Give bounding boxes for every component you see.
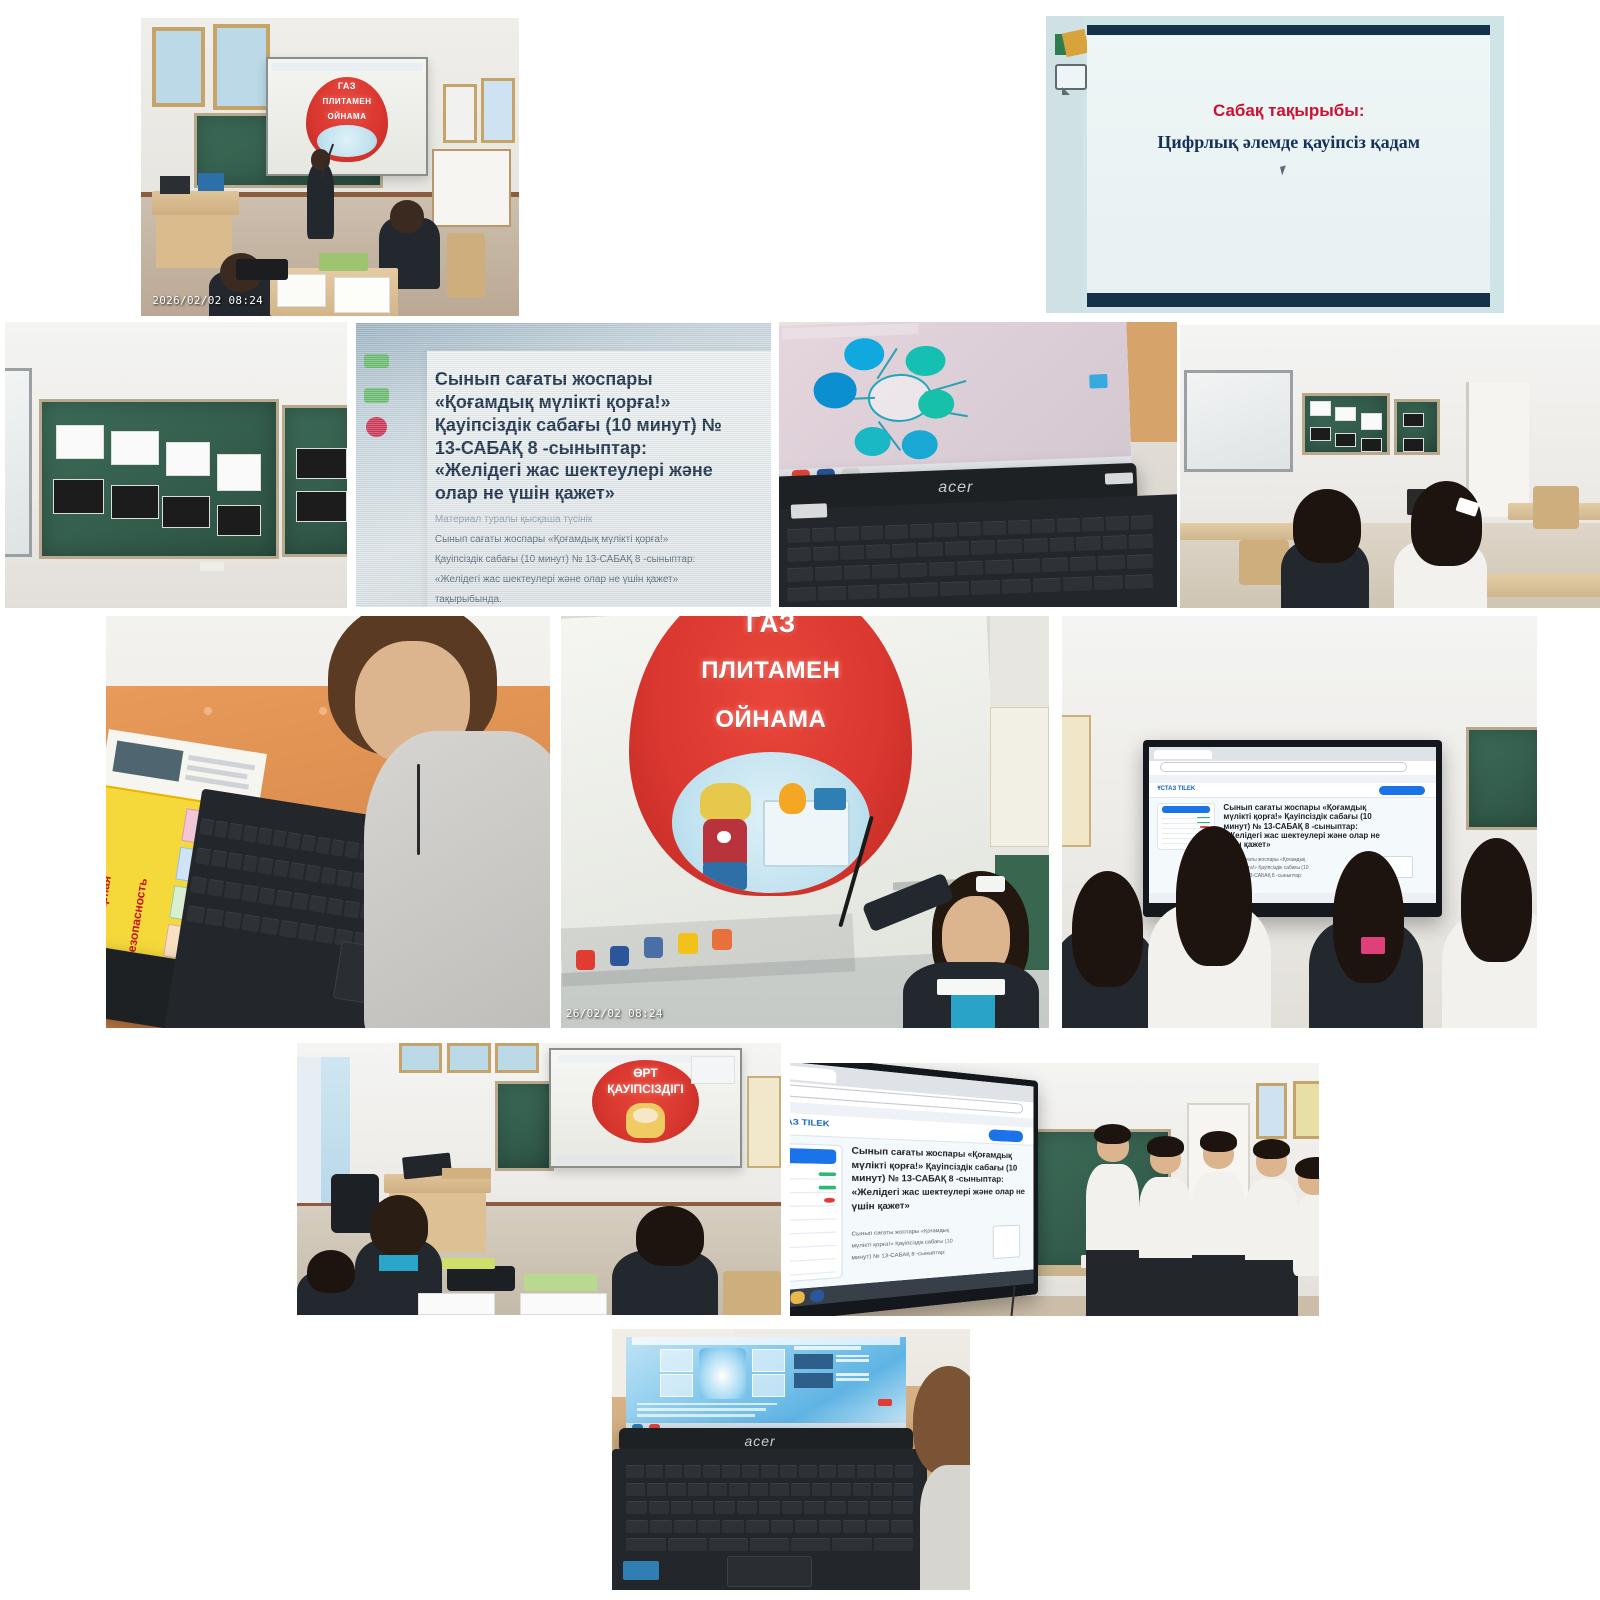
projection-text-line1: ГАЗ <box>629 616 912 638</box>
laptop-trackpad[interactable] <box>727 1556 813 1587</box>
lesson-plan-line-5: «Желідегі жас шектеулері және <box>435 459 713 482</box>
chrome-icon <box>644 937 664 958</box>
site-brand: ҰСТАЗ TILEK <box>1157 786 1195 792</box>
student-figure-5 <box>1293 1195 1319 1276</box>
opera-icon <box>712 929 732 950</box>
lesson-plan-body-line-3: «Желідегі жас шектеулері және олар не үш… <box>435 573 678 587</box>
photo-girl-laptop-fire: Пожарная безопасность 01 acer <box>106 616 550 1028</box>
yandex-icon <box>576 950 596 971</box>
lesson-plan-body-label: Материал туралы қысқаша түсінік <box>435 513 592 527</box>
laptop-screen <box>626 1337 905 1431</box>
display-screen: ҰСТАЗ TILEK Сынып сағаты жосп <box>790 1063 1034 1310</box>
lesson-plan-line-3: Қауіпсіздік сабағы (10 минут) № <box>435 414 722 437</box>
lesson-plan-body-line-1: Сынып сағаты жоспары «Қоғамдық мүлікті қ… <box>435 533 668 547</box>
student-figure-2 <box>1139 1177 1192 1268</box>
photo-timestamp: 2026/02/02 08:24 <box>152 294 263 307</box>
yandex-browser-icon <box>678 933 698 954</box>
photo-classroom-pointing: ГАЗ ПЛИТАМЕН ОЙНАМА <box>141 18 519 316</box>
wall-display: ҰСТАЗ TILEK Сынып сағаты жосп <box>790 1063 1039 1316</box>
lesson-plan-line-6: олар не үшін қажет» <box>435 482 615 505</box>
photo-laptop-mindmap: acer <box>779 322 1177 607</box>
word-icon <box>610 946 630 967</box>
register-button[interactable] <box>1379 786 1425 795</box>
projection-text-line2: ПЛИТАМЕН <box>306 98 388 106</box>
laptop-brand-logo: acer <box>744 1433 775 1449</box>
lesson-plan-line-4: 13-САБАҚ 8 -сыныптар: <box>435 437 647 460</box>
student-figure-1 <box>1086 1164 1139 1260</box>
laptop-brand-logo: acer <box>938 479 973 497</box>
photo-slide-title: Сабақ тақырыбы: Цифрлық әлемде қауіпсіз … <box>1046 16 1504 313</box>
photo-bulletin-board <box>5 322 347 608</box>
mouse-cursor-icon <box>1280 165 1288 175</box>
lesson-plan-line-2: «Қоғамдық мүлікті қорға!» <box>435 391 671 414</box>
slide-heading: Сабақ тақырыбы: <box>1087 101 1490 121</box>
photo-projected-lesson-plan: Сынып сағаты жоспары «Қоғамдық мүлікті қ… <box>356 323 771 607</box>
projection-fire-graphic: ГАЗ ПЛИТАМЕН ОЙНАМА <box>629 616 912 896</box>
projection-text-line1: ӨРТ <box>592 1066 698 1080</box>
photo-boys-tv: ҰСТАЗ TILEK Сынып сағаты жосп <box>790 1063 1319 1316</box>
projection-screen: ӨРТ ҚАУІПСІЗДІГІ <box>549 1048 743 1168</box>
register-button[interactable] <box>989 1129 1023 1142</box>
lesson-plan-body-line-4: тақырыбында. <box>435 593 502 607</box>
notification-badge <box>366 417 387 437</box>
lesson-plan-body-line-2: Қауіпсіздік сабағы (10 минут) № 13-САБАҚ… <box>435 553 695 567</box>
laptop-screen <box>779 322 1132 486</box>
word-icon <box>811 1289 824 1302</box>
sidebar-menu <box>790 1142 843 1284</box>
student-figure-4 <box>1245 1179 1298 1268</box>
photo-class-fire-slide: ӨРТ ҚАУІПСІЗДІГІ <box>297 1043 781 1315</box>
photo-laptop-digital: acer <box>612 1329 970 1590</box>
photo-timestamp: 26/02/02 08:24 <box>566 1007 663 1020</box>
student-body <box>364 731 550 1028</box>
status-badge-green-1 <box>364 354 389 368</box>
status-badge-green-2 <box>364 388 389 402</box>
projection-text-line1: ГАЗ <box>306 82 388 92</box>
slide-subheading: Цифрлық әлемде қауіпсіз қадам <box>1087 132 1490 153</box>
projection-text-line3: ОЙНАМА <box>306 113 388 121</box>
lesson-plan-line-1: Сынып сағаты жоспары <box>435 368 653 391</box>
page-title-line-5: үшін қажет» <box>852 1200 910 1213</box>
student-figure-3 <box>1192 1172 1245 1266</box>
page-title-line-3: минут) № 13-САБАҚ 8 -сыныптар: <box>852 1173 1004 1185</box>
projection-text-line2: ПЛИТАМЕН <box>629 658 912 683</box>
student-body <box>920 1465 970 1590</box>
poster-text-line1: Пожарная <box>106 874 114 935</box>
photo-two-girls-board <box>1180 325 1600 608</box>
photo-collage: ГАЗ ПЛИТАМЕН ОЙНАМА <box>0 0 1600 1600</box>
projection-text-line2: ҚАУІПСІЗДІГІ <box>592 1082 698 1096</box>
page-title-line-4: «Желідегі жас шектеулері және олар не <box>852 1187 1025 1199</box>
photo-girl-pointer-screen: ГАЗ ПЛИТАМЕН ОЙНАМА <box>561 616 1049 1028</box>
folder-icon <box>791 1291 804 1304</box>
projection-text-line3: ОЙНАМА <box>629 707 912 732</box>
photo-students-tv: ҰСТАЗ TILEK Сынып сағаты жоспары «Қоғамд… <box>1062 616 1537 1028</box>
